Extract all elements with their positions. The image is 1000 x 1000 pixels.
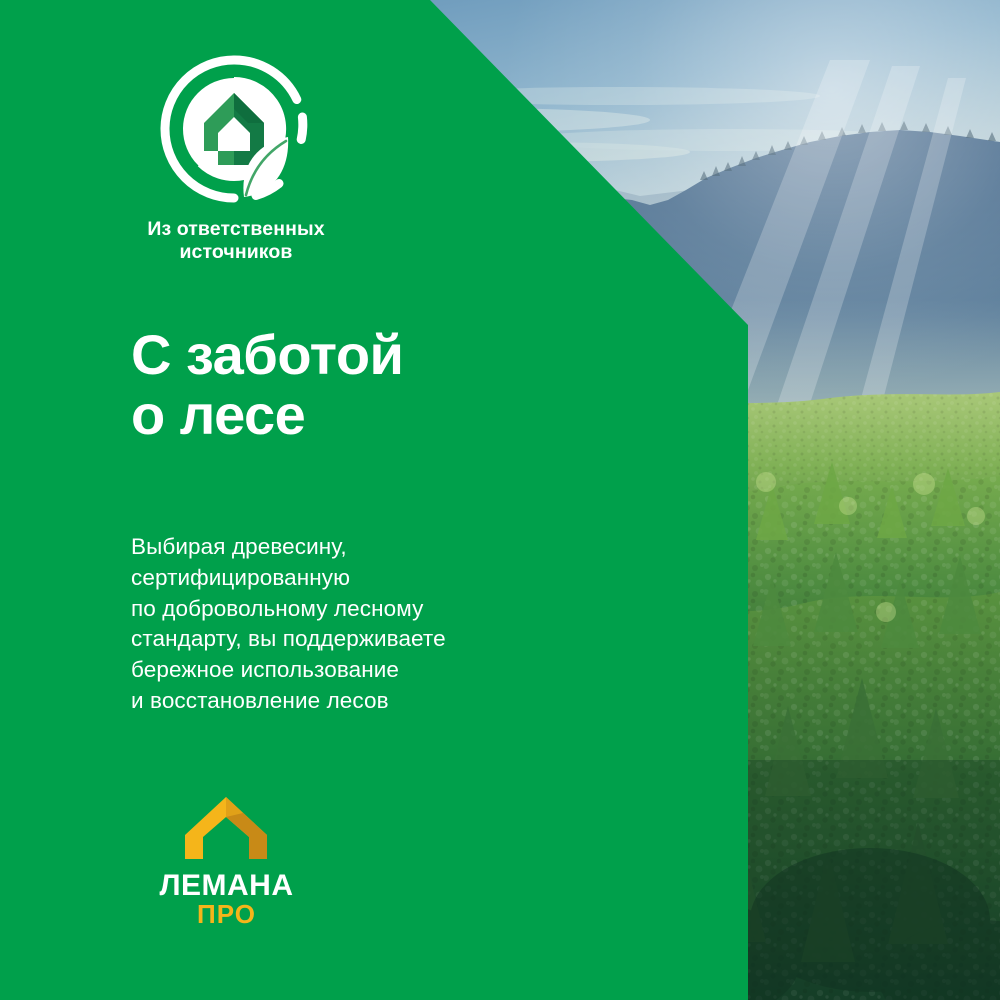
eco-badge-caption: Из ответственных источников	[126, 218, 346, 264]
forest-mountain-landscape-photo	[400, 0, 1000, 1000]
page-title: С заботой о лесе	[131, 325, 403, 445]
eco-certification-badge: Из ответственных источников	[126, 55, 346, 264]
lemana-pro-wordmark: ЛЕМАНА ПРО	[139, 867, 314, 927]
poster-root: Из ответственных источников С заботой о …	[0, 0, 1000, 1000]
svg-text:ПРО: ПРО	[197, 899, 256, 927]
eco-house-leaf-circle-logo	[160, 55, 308, 203]
svg-text:ЛЕМАНА: ЛЕМАНА	[159, 869, 293, 902]
brand-lockup: ЛЕМАНА ПРО	[131, 795, 321, 927]
lemana-pro-house-icon	[183, 795, 269, 861]
body-paragraph: Выбирая древесину, сертифицированную по …	[131, 532, 446, 717]
